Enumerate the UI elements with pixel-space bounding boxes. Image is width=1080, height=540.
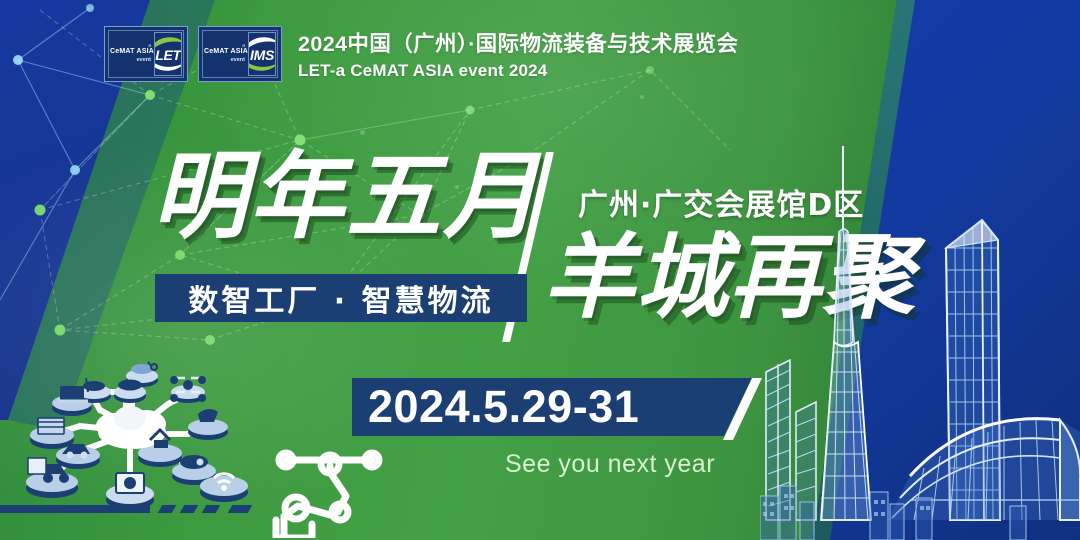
headline-left: 明年五月	[152, 150, 540, 245]
header-title-block: 2024中国（广州）·国际物流装备与技术展览会 LET-a CeMAT ASIA…	[298, 27, 738, 81]
canton-tower	[821, 146, 871, 520]
logo-let: a CeMAT ASIA event LET	[104, 26, 188, 82]
logo-ims-org: CeMAT ASIA	[204, 48, 245, 55]
logo-ims-text: IMS	[250, 47, 274, 63]
see-you-next-year: See you next year	[505, 450, 715, 479]
logo-ims-caption: a CeMAT ASIA event	[204, 44, 248, 64]
cloud-iot-illustration	[8, 352, 258, 517]
logo-ims: a CeMAT ASIA event IMS	[198, 26, 282, 82]
event-date: 2024.5.29-31	[368, 381, 748, 433]
banner-header: a CeMAT ASIA event LET a CeMAT ASIA even…	[104, 26, 738, 82]
speck	[360, 130, 365, 135]
logo-let-org: CeMAT ASIA	[110, 48, 151, 55]
logo-let-caption: a CeMAT ASIA event	[110, 44, 154, 64]
logo-ims-mark: IMS	[248, 32, 276, 76]
ground-line	[0, 505, 150, 513]
logo-let-event: event	[110, 58, 151, 64]
tagline-box: 数智工厂 · 智慧物流	[155, 274, 527, 322]
iot-node	[188, 419, 228, 440]
event-title-cn: 2024中国（广州）·国际物流装备与技术展览会	[298, 27, 738, 58]
logo-let-text: LET	[155, 47, 181, 63]
robot-arm-icon	[268, 420, 398, 538]
logo-ims-event: event	[204, 58, 245, 64]
guangzhou-skyline	[760, 120, 1080, 540]
event-banner: a CeMAT ASIA event LET a CeMAT ASIA even…	[0, 0, 1080, 540]
event-title-en: LET-a CeMAT ASIA event 2024	[298, 61, 738, 81]
logo-let-mark: LET	[154, 32, 182, 76]
speck	[640, 95, 644, 99]
tagline-text: 数智工厂 · 智慧物流	[188, 276, 493, 320]
